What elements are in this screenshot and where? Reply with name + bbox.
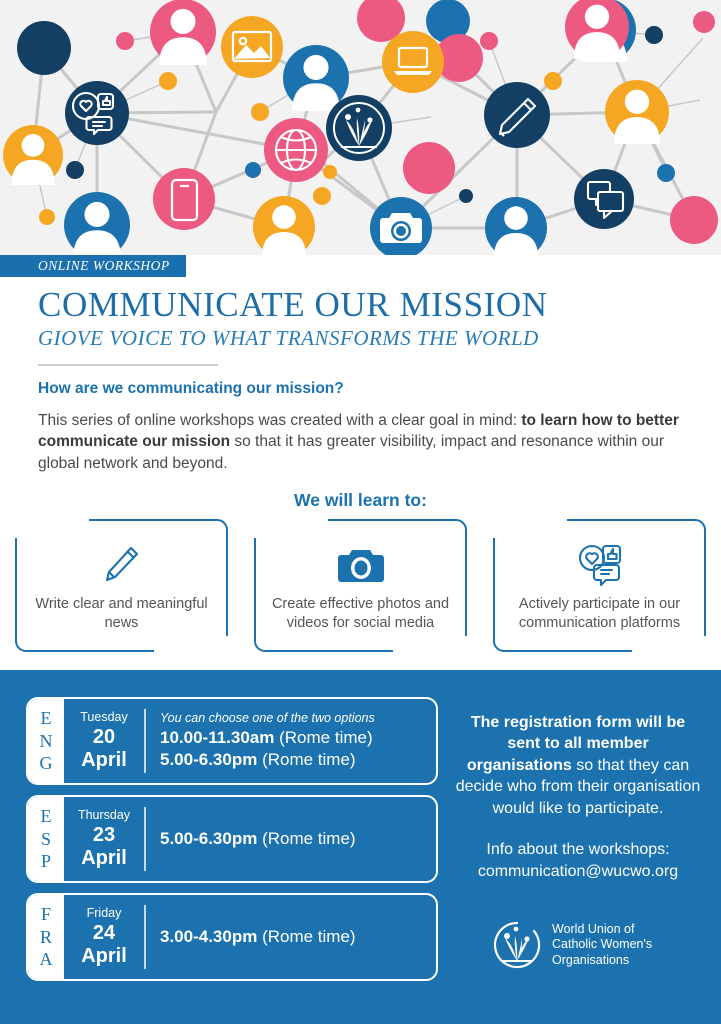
time-value: 5.00-6.30pm — [160, 750, 257, 769]
logo-line-3: Organisations — [552, 953, 652, 968]
page-title: COMMUNICATE OUR MISSION — [38, 287, 683, 324]
card-label: Create effective photos and videos for s… — [271, 595, 450, 633]
day-of-week: Friday — [87, 906, 122, 920]
time-zone: (Rome time) — [257, 927, 355, 946]
logo-line-1: World Union of — [552, 922, 652, 937]
language-code: E S P — [28, 797, 64, 881]
time-value: 5.00-6.30pm — [160, 829, 257, 848]
hero-icon-laptop — [382, 31, 444, 93]
lang-letter: E — [41, 805, 52, 828]
time-zone: (Rome time) — [257, 829, 355, 848]
hero-icon-engagement — [65, 81, 129, 145]
wucwo-logo: World Union of Catholic Women's Organisa… — [492, 920, 652, 970]
title-divider — [38, 364, 218, 366]
lang-letter: R — [40, 926, 52, 949]
hero-icon-chat — [574, 169, 634, 229]
lang-letter: G — [40, 752, 53, 775]
time-slot: 5.00-6.30pm (Rome time) — [160, 749, 436, 771]
wucwo-logo-text: World Union of Catholic Women's Organisa… — [552, 922, 652, 968]
schedule-card-fra: F R A Friday 24 April 3.00-4.30pm (Rome … — [26, 893, 438, 981]
learn-heading: We will learn to: — [38, 490, 683, 511]
contact-block: Info about the workshops: communication@… — [455, 839, 701, 882]
time-value: 3.00-4.30pm — [160, 927, 257, 946]
camera-icon — [337, 543, 385, 587]
lang-letter: F — [41, 903, 51, 926]
language-code: E N G — [28, 699, 64, 783]
day-number: 24 — [93, 921, 115, 945]
time-slot: 5.00-6.30pm (Rome time) — [160, 828, 436, 850]
hero-icon-pen — [484, 82, 550, 148]
date-column: Friday 24 April — [64, 905, 146, 969]
month-name: April — [81, 847, 127, 870]
lang-letter: A — [40, 948, 53, 971]
contact-label: Info about the workshops: — [455, 839, 701, 860]
date-column: Tuesday 20 April — [64, 709, 146, 773]
language-code: F R A — [28, 895, 64, 979]
month-name: April — [81, 749, 127, 772]
day-of-week: Thursday — [78, 808, 130, 822]
time-zone: (Rome time) — [257, 750, 355, 769]
card-label: Write clear and meaningful news — [32, 595, 211, 633]
registration-info: The registration form will be sent to al… — [455, 712, 701, 882]
lead-question: How are we communicating our mission? — [38, 380, 683, 398]
feature-card: Actively participate in our communicatio… — [492, 518, 707, 653]
engagement-icon — [576, 543, 624, 587]
feature-card-list: Write clear and meaningful news — [14, 518, 707, 653]
month-name: April — [81, 945, 127, 968]
hero-icon-phone — [153, 168, 215, 230]
day-number: 23 — [93, 823, 115, 847]
lang-letter: N — [40, 730, 53, 753]
lang-letter: E — [41, 707, 52, 730]
pen-icon — [102, 543, 142, 587]
lang-letter: P — [41, 850, 51, 873]
schedule-card-esp: E S P Thursday 23 April 5.00-6.30pm (Rom… — [26, 795, 438, 883]
time-column: 5.00-6.30pm (Rome time) — [146, 797, 436, 881]
feature-card: Write clear and meaningful news — [14, 518, 229, 653]
wucwo-emblem-icon — [492, 920, 542, 970]
lead-part1: This series of online workshops was crea… — [38, 412, 521, 429]
time-slot: 10.00-11.30am (Rome time) — [160, 727, 436, 749]
logo-line-2: Catholic Women's — [552, 937, 652, 952]
time-zone: (Rome time) — [274, 728, 372, 747]
poster: ONLINE WORKSHOP COMMUNICATE OUR MISSION … — [0, 0, 721, 1024]
time-slot: 3.00-4.30pm (Rome time) — [160, 926, 436, 948]
card-label: Actively participate in our communicatio… — [510, 595, 689, 633]
online-workshop-tag: ONLINE WORKSHOP — [0, 255, 186, 277]
option-note: You can choose one of the two options — [160, 711, 436, 725]
hero-network-graphic — [0, 0, 721, 255]
schedule-card-eng: E N G Tuesday 20 April You can choose on… — [26, 697, 438, 785]
registration-paragraph: The registration form will be sent to al… — [455, 712, 701, 819]
page-subtitle: GIOVE VOICE TO WHAT TRANSFORMS THE WORLD — [38, 326, 683, 351]
date-column: Thursday 23 April — [64, 807, 146, 871]
contact-email[interactable]: communication@wucwo.org — [455, 861, 701, 882]
time-value: 10.00-11.30am — [160, 728, 274, 747]
lang-letter: S — [41, 828, 51, 851]
hero-icon-globe — [264, 118, 328, 182]
time-column: 3.00-4.30pm (Rome time) — [146, 895, 436, 979]
feature-card: Create effective photos and videos for s… — [253, 518, 468, 653]
day-of-week: Tuesday — [80, 710, 127, 724]
schedule-list: E N G Tuesday 20 April You can choose on… — [26, 697, 438, 981]
hero-icon-emblem — [326, 95, 392, 161]
time-column: You can choose one of the two options 10… — [146, 699, 436, 783]
day-number: 20 — [93, 725, 115, 749]
lead-paragraph: This series of online workshops was crea… — [38, 410, 683, 474]
hero-icon-image — [221, 16, 283, 78]
